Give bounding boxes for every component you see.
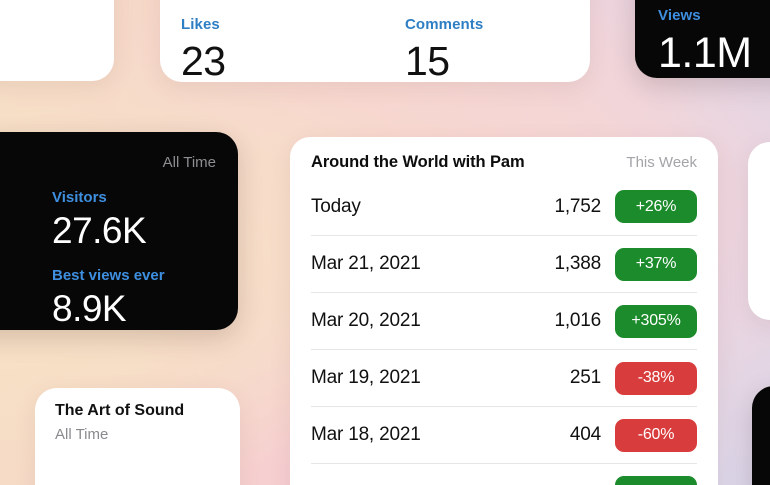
metric-card-engagement[interactable]: Likes 23 Comments 15	[160, 0, 590, 82]
row-count: 1,752	[519, 196, 615, 218]
views-list-title: Around the World with Pam	[311, 153, 525, 172]
metric-card-views[interactable]: Views 1.1M	[635, 0, 770, 78]
stats-card-art-of-sound-range[interactable]: All Time	[55, 426, 184, 443]
views-list-range[interactable]: This Week	[626, 154, 697, 171]
stat-visitors: Visitors 27.6K	[52, 190, 165, 249]
views-list-rows: Today 1,752 +26% Mar 21, 2021 1,388 +37%…	[290, 178, 718, 485]
table-row[interactable]: Mar 19, 2021 251 -38%	[311, 349, 697, 406]
row-date: Today	[311, 196, 519, 218]
row-date: Mar 21, 2021	[311, 253, 519, 275]
row-count: 1,388	[519, 253, 615, 275]
metric-value-views: 1.1M	[658, 32, 752, 75]
metric-block-views: Views 1.1M	[658, 8, 752, 75]
views-list-header: Around the World with Pam This Week	[290, 137, 718, 172]
metric-label-views: Views	[658, 8, 752, 23]
row-count: 251	[519, 367, 615, 389]
status-badge: +37%	[615, 248, 697, 281]
metric-label-comments: Comments	[405, 17, 483, 32]
metric-card-partial-left[interactable]: 99	[0, 0, 114, 81]
views-list-card[interactable]: Around the World with Pam This Week Toda…	[290, 137, 718, 485]
partial-card-right-dark[interactable]	[752, 386, 770, 485]
metric-value-likes: 23	[181, 41, 226, 82]
stat-best-views-ever: Best views ever 8.9K	[52, 268, 165, 327]
row-date: Mar 20, 2021	[311, 310, 519, 332]
stat-value-best-views-ever: 8.9K	[52, 290, 165, 327]
status-badge: -38%	[615, 362, 697, 395]
metric-block-likes: Likes 23	[181, 17, 226, 82]
stat-label-best-views-ever: Best views ever	[52, 268, 165, 283]
partial-card-right-white[interactable]	[748, 142, 770, 320]
table-row[interactable]	[311, 463, 697, 485]
table-row[interactable]: Today 1,752 +26%	[311, 178, 697, 235]
row-date: Mar 18, 2021	[311, 424, 519, 446]
row-date: Mar 19, 2021	[311, 367, 519, 389]
metric-block-comments: Comments 15	[405, 17, 483, 82]
dashboard-canvas: 99 Likes 23 Comments 15 Views 1.1M te Al…	[0, 0, 770, 485]
metric-value-comments: 15	[405, 41, 483, 82]
stats-card-art-of-sound[interactable]: The Art of Sound All Time	[35, 388, 240, 485]
row-count: 404	[519, 424, 615, 446]
status-badge	[615, 476, 697, 485]
stat-label-visitors: Visitors	[52, 190, 165, 205]
status-badge: +305%	[615, 305, 697, 338]
table-row[interactable]: Mar 21, 2021 1,388 +37%	[311, 235, 697, 292]
stats-card-visitors[interactable]: te All Time Visitors 27.6K Best views ev…	[0, 132, 238, 330]
table-row[interactable]: Mar 18, 2021 404 -60%	[311, 406, 697, 463]
stats-card-art-of-sound-body: The Art of Sound All Time	[55, 402, 184, 443]
row-count: 1,016	[519, 310, 615, 332]
status-badge: +26%	[615, 190, 697, 223]
stat-value-visitors: 27.6K	[52, 212, 165, 249]
metric-label-likes: Likes	[181, 17, 226, 32]
stats-card-visitors-header: te All Time	[0, 154, 238, 172]
table-row[interactable]: Mar 20, 2021 1,016 +305%	[311, 292, 697, 349]
stats-card-visitors-body: Visitors 27.6K Best views ever 8.9K	[52, 190, 165, 327]
stats-card-visitors-range[interactable]: All Time	[163, 154, 216, 171]
status-badge: -60%	[615, 419, 697, 452]
stats-card-art-of-sound-title: The Art of Sound	[55, 402, 184, 420]
